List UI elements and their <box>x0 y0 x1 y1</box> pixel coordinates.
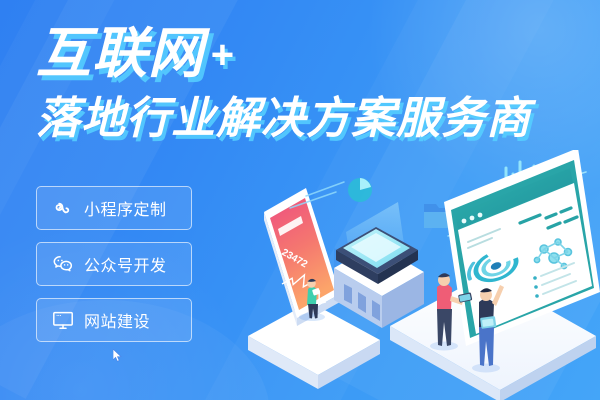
isometric-illustration: 23472 <box>248 150 600 400</box>
service-pill-list: 小程序定制 公众号开发 <box>36 186 192 342</box>
headline-line-1: 互联网+ <box>36 26 531 81</box>
pill-official-account[interactable]: 公众号开发 <box>36 242 192 286</box>
headline-plus-symbol: + <box>210 33 233 77</box>
promo-banner: 互联网+ 落地行业解决方案服务商 小程序定制 <box>0 0 600 400</box>
pill-official-account-label: 公众号开发 <box>84 252 167 276</box>
central-pedestal <box>334 202 424 328</box>
headline-line-2: 落地行业解决方案服务商 <box>36 97 531 141</box>
wechat-miniprogram-icon <box>51 196 75 220</box>
headline-line-1-text: 互联网 <box>36 22 204 84</box>
pill-miniprogram-label: 小程序定制 <box>84 196 167 220</box>
browser-mockup <box>444 150 600 346</box>
pill-website-label: 网站建设 <box>84 308 150 332</box>
mouse-cursor <box>113 349 122 362</box>
wechat-icon <box>51 252 75 276</box>
pill-website[interactable]: 网站建设 <box>36 298 192 342</box>
smartphone-mockup: 23472 <box>264 188 340 326</box>
pill-miniprogram[interactable]: 小程序定制 <box>36 186 192 230</box>
pie-chart-icon <box>348 178 372 202</box>
monitor-icon <box>51 308 75 332</box>
headline: 互联网+ 落地行业解决方案服务商 <box>36 26 531 141</box>
